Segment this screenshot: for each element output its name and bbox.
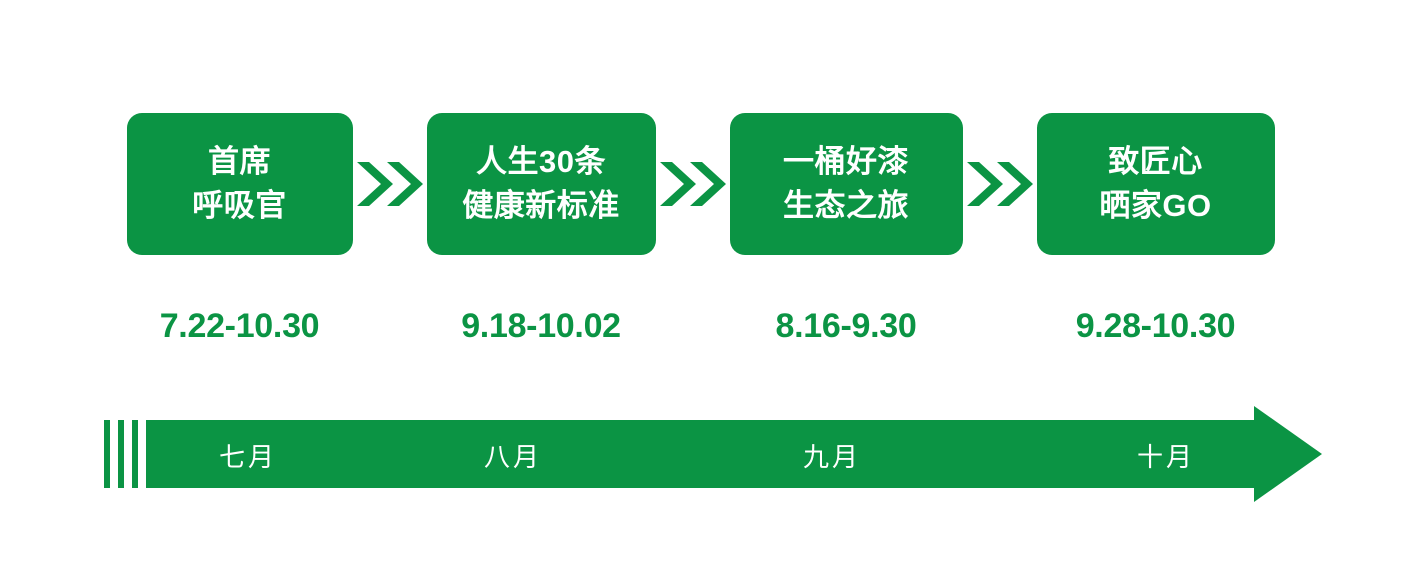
phase-date-slot-2: 9.18-10.02 bbox=[427, 307, 656, 346]
timeline-month-3: 九月 bbox=[803, 437, 861, 474]
phase-card-3[interactable]: 一桶好漆 生态之旅 bbox=[730, 113, 963, 255]
phase-card-3-line2: 生态之旅 bbox=[783, 184, 909, 228]
timeline-month-4: 十月 bbox=[1137, 437, 1195, 474]
phase-date-1: 7.22-10.30 bbox=[160, 307, 320, 346]
double-chevron-right-icon-1 bbox=[353, 156, 427, 212]
phase-date-3: 8.16-9.30 bbox=[776, 307, 917, 346]
phase-card-4-line2: 晒家GO bbox=[1099, 184, 1211, 228]
double-chevron-right-icon-2 bbox=[656, 156, 730, 212]
right-arrow-icon bbox=[1254, 406, 1322, 502]
phase-card-3-line1: 一桶好漆 bbox=[783, 140, 909, 184]
phase-card-2-line2: 健康新标准 bbox=[462, 184, 620, 228]
phase-date-row: 7.22-10.30 9.18-10.02 8.16-9.30 9.28-10.… bbox=[0, 300, 1401, 352]
timeline-tick-1 bbox=[104, 420, 110, 488]
timeline-tick-3 bbox=[132, 420, 138, 488]
phase-date-4: 9.28-10.30 bbox=[1076, 307, 1236, 346]
phase-card-4-line1: 致匠心 bbox=[1108, 140, 1203, 184]
phase-card-2[interactable]: 人生30条 健康新标准 bbox=[427, 113, 656, 255]
timeline-tick-2 bbox=[118, 420, 124, 488]
double-chevron-right-icon-3 bbox=[963, 156, 1037, 212]
phase-date-2: 9.18-10.02 bbox=[461, 307, 621, 346]
timeline-month-1: 七月 bbox=[219, 437, 277, 474]
timeline-month-2: 八月 bbox=[484, 437, 542, 474]
phase-card-4[interactable]: 致匠心 晒家GO bbox=[1037, 113, 1275, 255]
phase-card-2-line1: 人生30条 bbox=[476, 140, 606, 184]
phase-date-slot-4: 9.28-10.30 bbox=[1037, 307, 1275, 346]
phase-card-row: 首席 呼吸官 人生30条 健康新标准 一桶好漆 生态之旅 bbox=[0, 113, 1401, 255]
timeline-infographic: 首席 呼吸官 人生30条 健康新标准 一桶好漆 生态之旅 bbox=[0, 0, 1401, 586]
phase-card-1-line2: 呼吸官 bbox=[192, 184, 287, 228]
phase-date-slot-1: 7.22-10.30 bbox=[127, 307, 353, 346]
phase-card-1[interactable]: 首席 呼吸官 bbox=[127, 113, 353, 255]
phase-card-1-line1: 首席 bbox=[208, 140, 271, 184]
phase-date-slot-3: 8.16-9.30 bbox=[730, 307, 963, 346]
timeline-bar bbox=[146, 420, 1254, 488]
